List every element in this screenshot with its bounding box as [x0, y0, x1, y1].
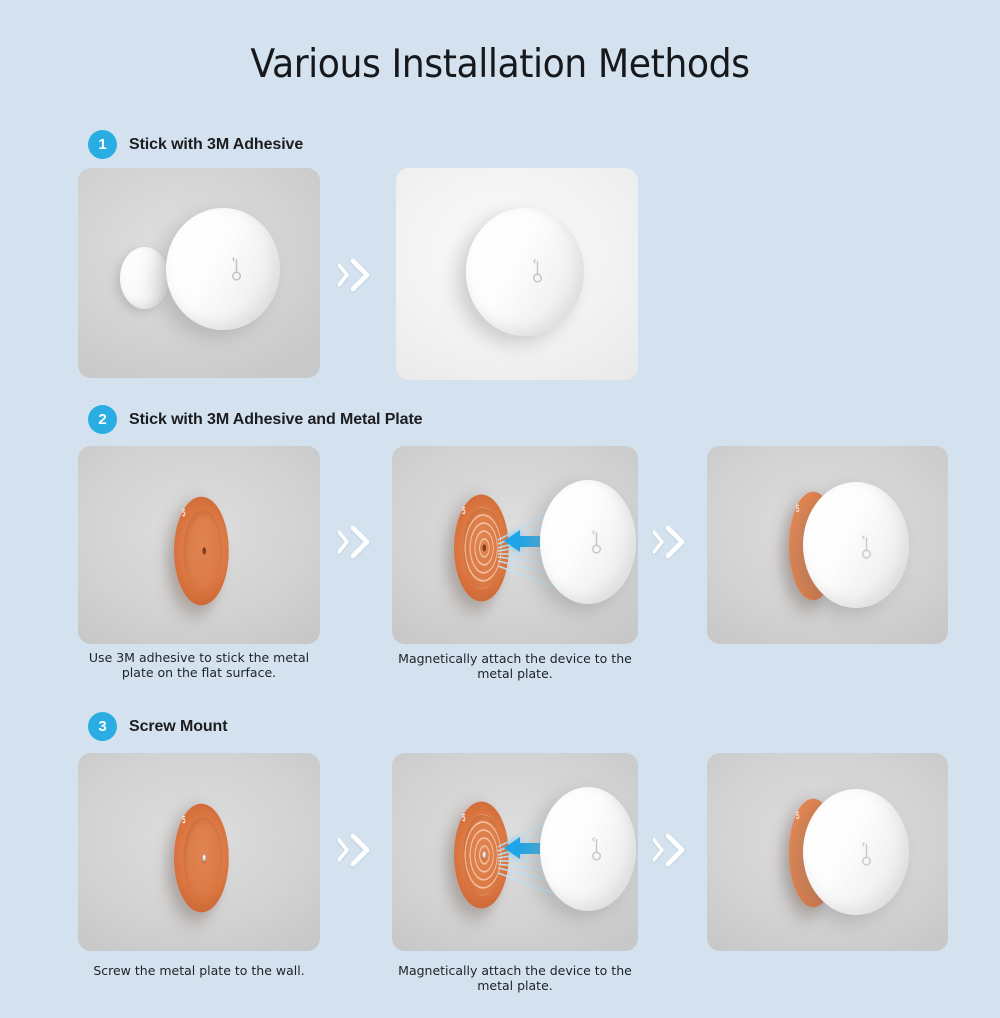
- step-badge-1: 1: [88, 130, 117, 159]
- step-label-1: Stick with 3M Adhesive: [129, 136, 303, 154]
- arrow-separator-row2-b: [653, 525, 686, 559]
- thermometer-humidity-icon: [531, 259, 544, 285]
- panel-step1-mounted[interactable]: [396, 168, 638, 380]
- sensor-device: [803, 789, 909, 915]
- double-chevron-right-icon: [666, 525, 686, 559]
- thermometer-humidity-icon: [860, 842, 873, 868]
- magnet-direction-arrow: [504, 530, 520, 552]
- thermometer-humidity-icon: [590, 530, 603, 556]
- thermometer-humidity-icon: [230, 257, 243, 283]
- mounting-screw: [482, 852, 485, 859]
- caption-step2-2: Magnetically attach the device to the me…: [392, 651, 638, 682]
- sensor-device: [466, 208, 584, 336]
- double-chevron-right-icon: [338, 262, 350, 288]
- double-chevron-right-icon: [351, 833, 371, 867]
- panel-step1-adhesive-pad[interactable]: [78, 168, 320, 378]
- step-badge-2: 2: [88, 405, 117, 434]
- caption-step2-1: Use 3M adhesive to stick the metal plate…: [78, 650, 320, 681]
- arrow-separator-row3-a: [338, 833, 371, 867]
- sensor-device: [540, 787, 636, 911]
- plate-number-label: 5: [796, 504, 800, 515]
- step-badge-3: 3: [88, 712, 117, 741]
- sensor-device: [803, 482, 909, 608]
- panel-step2-plate[interactable]: 5: [78, 446, 320, 644]
- panel-step3-plate[interactable]: 5: [78, 753, 320, 951]
- thermometer-humidity-icon: [860, 535, 873, 561]
- plate-number-label: 5: [462, 506, 465, 517]
- double-chevron-right-icon: [351, 525, 371, 559]
- step-header-2: 2 Stick with 3M Adhesive and Metal Plate: [88, 405, 422, 434]
- double-chevron-right-icon: [666, 833, 686, 867]
- mounting-screw: [202, 855, 205, 862]
- step-header-3: 3 Screw Mount: [88, 712, 227, 741]
- double-chevron-right-icon: [351, 258, 371, 292]
- adhesive-pad-disc: [120, 247, 169, 309]
- panel-step2-magnet[interactable]: 5: [392, 446, 638, 644]
- plate-center-hole: [482, 545, 485, 552]
- plate-number-label: 5: [182, 815, 185, 826]
- panel-step3-mounted[interactable]: 5: [707, 753, 948, 951]
- arrow-separator-row2-a: [338, 525, 371, 559]
- plate-center-hole: [202, 548, 205, 555]
- arrow-separator-row3-b: [653, 833, 686, 867]
- panel-step2-mounted[interactable]: 5: [707, 446, 948, 644]
- double-chevron-right-icon: [338, 837, 350, 863]
- step-header-1: 1 Stick with 3M Adhesive: [88, 130, 303, 159]
- page-title: Various Installation Methods: [35, 42, 965, 87]
- double-chevron-right-icon: [653, 529, 665, 555]
- arrow-separator-row1: [338, 258, 371, 292]
- sensor-device: [540, 480, 636, 604]
- double-chevron-right-icon: [653, 837, 665, 863]
- plate-number-label: 5: [462, 813, 465, 824]
- plate-number-label: 5: [182, 508, 185, 519]
- caption-step3-1: Screw the metal plate to the wall.: [78, 963, 320, 978]
- sensor-device: [166, 208, 280, 330]
- caption-step3-2: Magnetically attach the device to the me…: [392, 963, 638, 994]
- step-label-2: Stick with 3M Adhesive and Metal Plate: [129, 411, 422, 429]
- plate-number-label: 5: [796, 811, 800, 822]
- magnet-direction-arrow: [504, 837, 520, 859]
- step-label-3: Screw Mount: [129, 718, 227, 736]
- double-chevron-right-icon: [338, 529, 350, 555]
- panel-step3-magnet[interactable]: 5: [392, 753, 638, 951]
- thermometer-humidity-icon: [590, 837, 603, 863]
